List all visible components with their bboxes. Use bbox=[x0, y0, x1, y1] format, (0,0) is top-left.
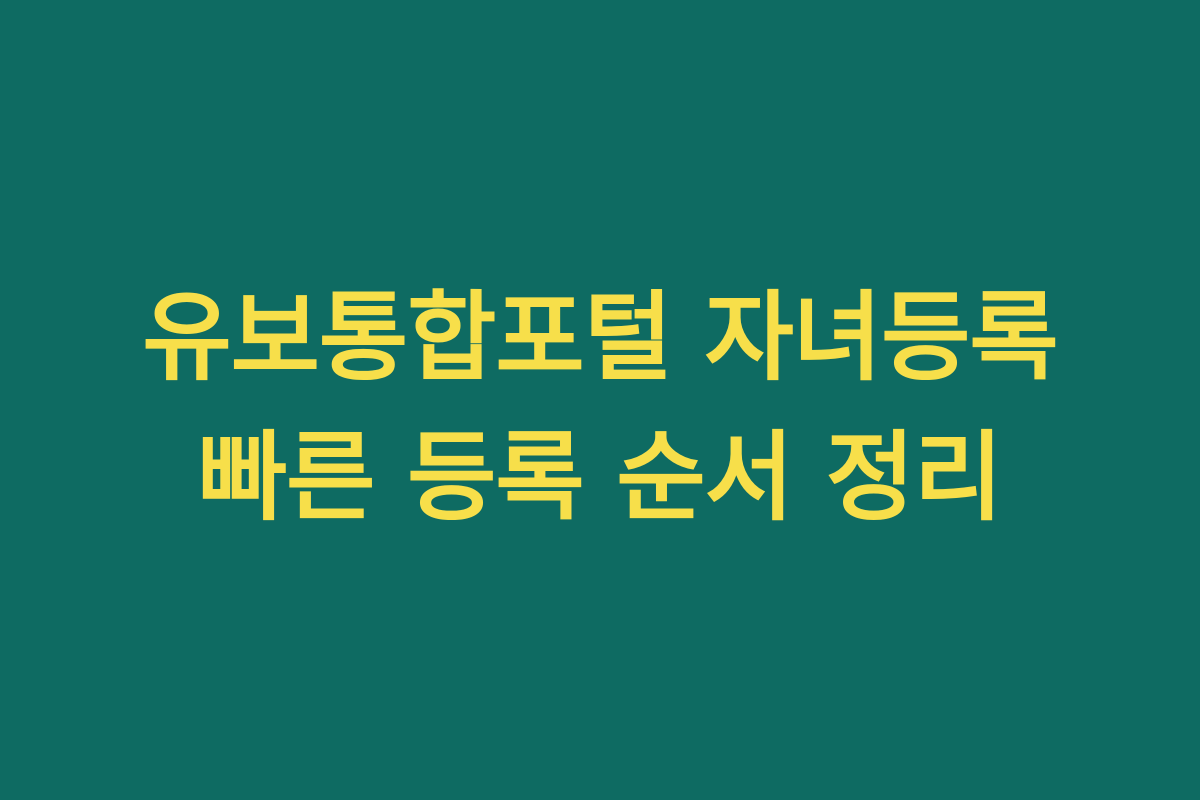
thumbnail-canvas: 유보통합포털 자녀등록 빠른 등록 순서 정리 bbox=[0, 0, 1200, 800]
title-block: 유보통합포털 자녀등록 빠른 등록 순서 정리 bbox=[0, 268, 1200, 548]
title-line-1: 유보통합포털 자녀등록 bbox=[40, 268, 1160, 408]
title-line-2: 빠른 등록 순서 정리 bbox=[40, 408, 1160, 548]
